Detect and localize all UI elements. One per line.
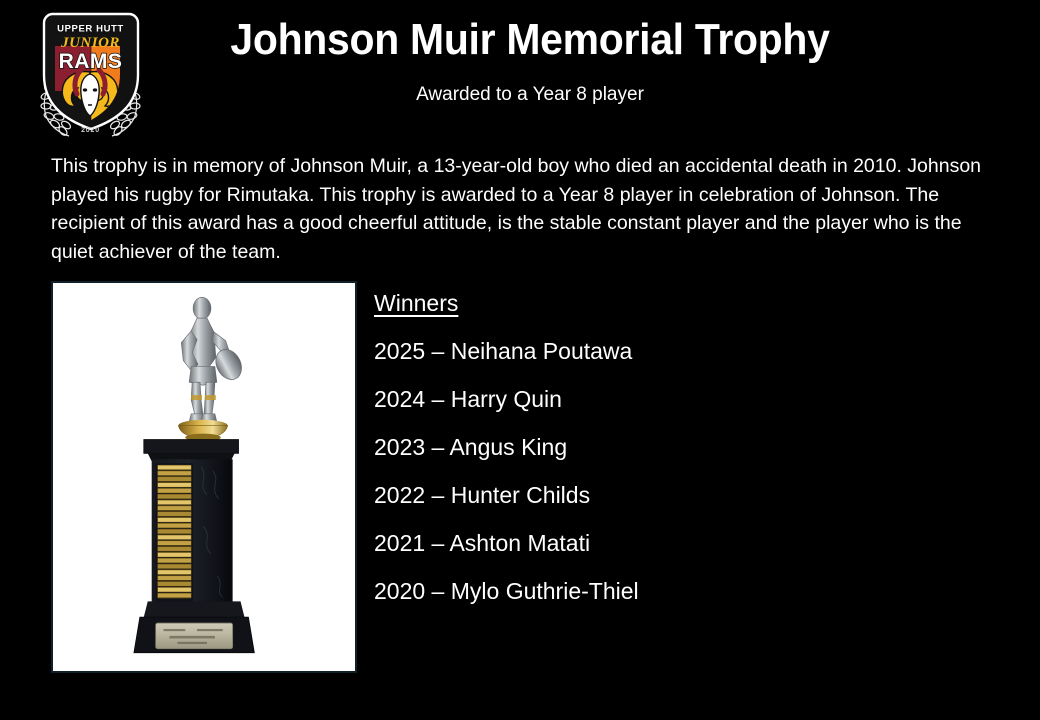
winner-row: 2025 – Neihana Poutawa [374, 336, 974, 366]
trophy-description: This trophy is in memory of Johnson Muir… [51, 152, 993, 266]
slide-canvas: UPPER HUTT JUNIOR RAMS 2020 Johnson Muir… [0, 0, 1040, 720]
page-title: Johnson Muir Memorial Trophy [186, 14, 874, 66]
winners-heading: Winners [374, 288, 974, 318]
trophy-base [134, 601, 254, 652]
winner-row: 2020 – Mylo Guthrie-Thiel [374, 576, 974, 606]
winner-row: 2022 – Hunter Childs [374, 480, 974, 510]
trophy-name-plates [156, 463, 194, 603]
winner-row: 2023 – Angus King [374, 432, 974, 462]
logo-text-rams: RAMS [59, 50, 123, 73]
trophy-photo [51, 281, 357, 673]
page-subtitle: Awarded to a Year 8 player [160, 83, 900, 107]
logo-text-upper-hutt: UPPER HUTT [56, 21, 125, 34]
winner-row: 2024 – Harry Quin [374, 384, 974, 414]
winners-section: Winners 2025 – Neihana Poutawa 2024 – Ha… [374, 288, 974, 606]
club-crest-logo: UPPER HUTT JUNIOR RAMS 2020 [33, 6, 148, 138]
logo-text-junior: JUNIOR [60, 35, 120, 51]
trophy-column-cap [144, 439, 239, 461]
svg-text:UPPER HUTT: UPPER HUTT [57, 23, 124, 34]
winner-row: 2021 – Ashton Matati [374, 528, 974, 558]
logo-text-year: 2020 [81, 127, 100, 134]
trophy-column [152, 459, 233, 605]
